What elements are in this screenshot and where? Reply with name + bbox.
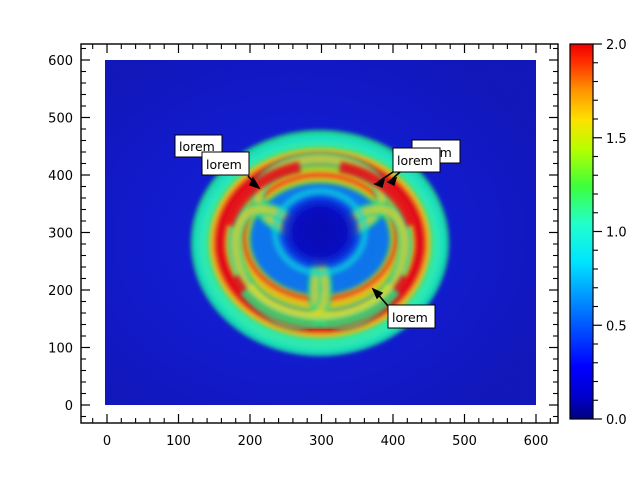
annotation-label: lorem	[397, 153, 433, 168]
y-tick-label: 100	[48, 342, 73, 357]
figure-canvas: 0100200300400500600 0100200300400500600 …	[0, 0, 640, 480]
colorbar-tick-label: 1.5	[606, 132, 627, 147]
x-tick-label: 200	[238, 434, 263, 449]
colorbar-tick-label: 2.0	[606, 38, 627, 53]
y-tick-label: 0	[65, 399, 73, 414]
colorbar-gradient	[570, 44, 593, 419]
colorbar-ticks	[593, 44, 602, 419]
colorbar-tick-label: 0.5	[606, 319, 627, 334]
y-tick-label: 400	[48, 169, 73, 184]
colorbar[interactable]: 0.00.51.01.52.0	[570, 38, 627, 428]
annotation-label: lorem	[392, 310, 428, 325]
x-tick-label: 0	[103, 434, 111, 449]
colorbar-tick-label: 0.0	[606, 413, 627, 428]
noise-overlay-2	[105, 60, 536, 405]
colorbar-tick-label: 1.0	[606, 226, 627, 241]
x-tick-label: 300	[309, 434, 334, 449]
y-axis-tick-labels: 0100200300400500600	[48, 54, 73, 414]
x-axis-tick-labels: 0100200300400500600	[103, 434, 549, 449]
plot-figure: 0100200300400500600 0100200300400500600 …	[0, 0, 640, 480]
annotation-label: lorem	[206, 157, 242, 172]
x-tick-label: 400	[381, 434, 406, 449]
heatmap-image	[105, 60, 536, 405]
x-tick-label: 500	[452, 434, 477, 449]
y-tick-label: 300	[48, 227, 73, 242]
y-tick-label: 200	[48, 284, 73, 299]
y-tick-label: 500	[48, 112, 73, 127]
x-tick-label: 100	[166, 434, 191, 449]
colorbar-tick-labels: 0.00.51.01.52.0	[606, 38, 627, 428]
y-tick-label: 600	[48, 54, 73, 69]
x-tick-label: 600	[524, 434, 549, 449]
